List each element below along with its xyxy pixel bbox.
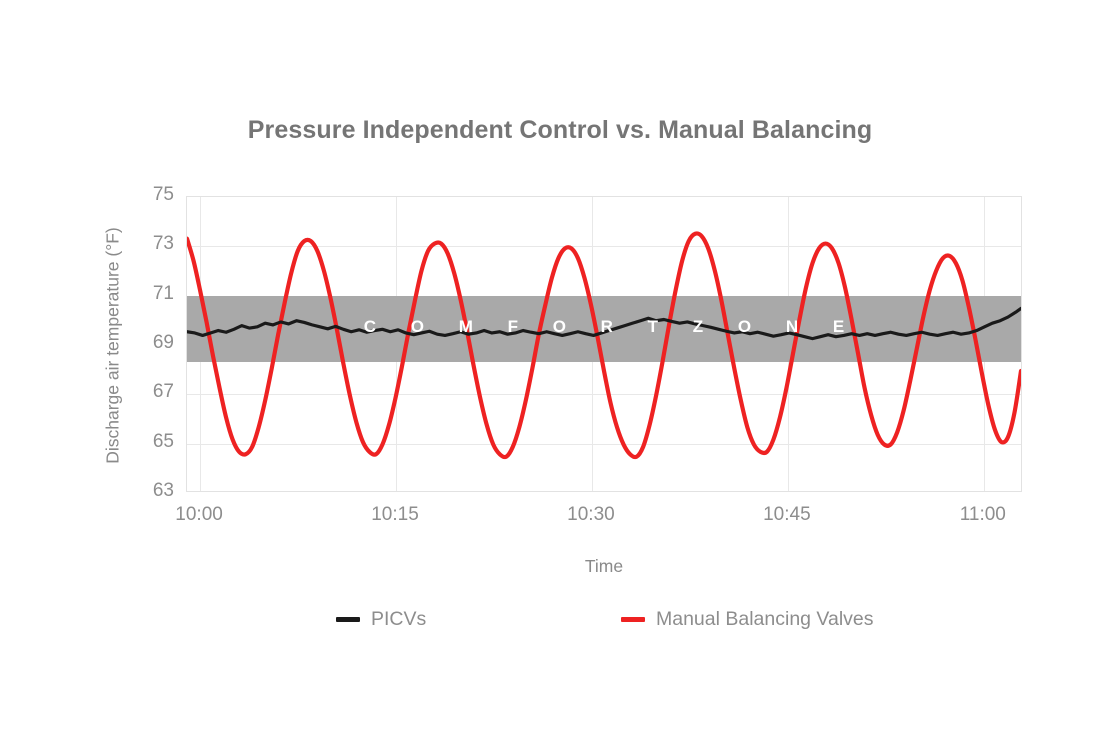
y-tick-label: 73 xyxy=(134,233,174,255)
legend-swatch-icon xyxy=(621,617,645,622)
chart-figure: Pressure Independent Control vs. Manual … xyxy=(0,0,1120,747)
x-tick-label: 10:45 xyxy=(727,504,847,526)
chart-legend: PICVsManual Balancing Valves xyxy=(186,604,1022,640)
chart-title: Pressure Independent Control vs. Manual … xyxy=(0,116,1120,145)
y-tick-label: 71 xyxy=(134,283,174,305)
legend-label: Manual Balancing Valves xyxy=(656,608,874,631)
x-axis-title: Time xyxy=(186,556,1022,577)
plot-area: C O M F O R T Z O N E xyxy=(186,196,1022,492)
legend-swatch-icon xyxy=(336,617,360,622)
legend-label: PICVs xyxy=(371,608,426,631)
legend-item-manual-balancing-valves[interactable]: Manual Balancing Valves xyxy=(621,604,874,634)
series-line-picvs xyxy=(187,308,1021,338)
y-axis-title: Discharge air temperature (°F) xyxy=(103,181,124,511)
legend-item-picvs[interactable]: PICVs xyxy=(336,604,426,634)
y-tick-label: 65 xyxy=(134,431,174,453)
y-tick-label: 69 xyxy=(134,332,174,354)
series-lines xyxy=(187,197,1021,491)
series-line-manual-balancing-valves xyxy=(187,233,1021,457)
y-tick-label: 67 xyxy=(134,381,174,403)
x-tick-label: 10:00 xyxy=(139,504,259,526)
y-tick-label: 75 xyxy=(134,184,174,206)
y-tick-label: 63 xyxy=(134,480,174,502)
x-tick-label: 10:30 xyxy=(531,504,651,526)
x-tick-label: 11:00 xyxy=(923,504,1043,526)
x-tick-label: 10:15 xyxy=(335,504,455,526)
